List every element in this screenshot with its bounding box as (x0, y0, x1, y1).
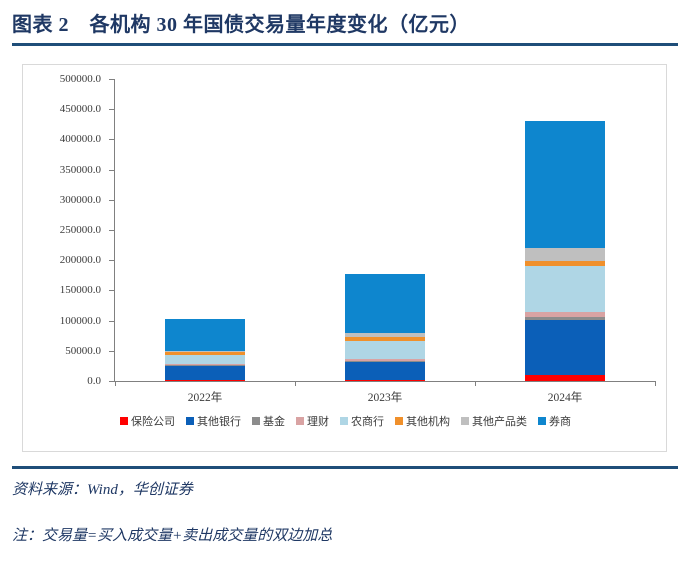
figure-page: 图表 2 各机构 30 年国债交易量年度变化（亿元） 0.050000.0100… (0, 0, 690, 562)
y-axis-tick-label: 150000.0 (60, 284, 101, 296)
bar-series-area (115, 79, 655, 381)
y-axis-tick-label: 500000.0 (60, 73, 101, 85)
legend-swatch-icon (340, 417, 348, 425)
footer-divider (12, 466, 678, 469)
legend-swatch-icon (538, 417, 546, 425)
y-axis-tick-label: 200000.0 (60, 254, 101, 266)
legend-item[interactable]: 理财 (296, 413, 329, 429)
legend-label: 理财 (307, 413, 329, 429)
bar-group[interactable] (165, 319, 245, 381)
bar-group[interactable] (525, 121, 605, 381)
bar-segment[interactable] (165, 380, 245, 381)
legend-item[interactable]: 其他产品类 (461, 413, 527, 429)
x-axis-tick-mark (295, 381, 296, 386)
legend-swatch-icon (395, 417, 403, 425)
bar-segment[interactable] (525, 121, 605, 248)
x-axis-tick-label: 2022年 (145, 389, 265, 405)
x-axis-line (114, 381, 655, 382)
bar-segment[interactable] (525, 375, 605, 381)
legend-item[interactable]: 其他银行 (186, 413, 241, 429)
bar-segment[interactable] (165, 319, 245, 351)
bar-segment[interactable] (165, 366, 245, 380)
legend-swatch-icon (252, 417, 260, 425)
bar-segment[interactable] (525, 248, 605, 261)
x-axis-tick-label: 2023年 (325, 389, 445, 405)
title-divider (12, 43, 678, 46)
chart-container: 0.050000.0100000.0150000.0200000.0250000… (22, 64, 667, 452)
legend-label: 农商行 (351, 413, 384, 429)
page-title: 图表 2 各机构 30 年国债交易量年度变化（亿元） (12, 8, 678, 37)
y-axis-tick-label: 50000.0 (65, 345, 101, 357)
chart-plot: 0.050000.0100000.0150000.0200000.0250000… (23, 65, 668, 453)
bar-segment[interactable] (525, 266, 605, 313)
y-axis-labels: 0.050000.0100000.0150000.0200000.0250000… (23, 65, 109, 395)
legend-item[interactable]: 保险公司 (120, 413, 175, 429)
x-axis-tick-mark (115, 381, 116, 386)
y-axis-tick-label: 450000.0 (60, 103, 101, 115)
y-axis-tick-label: 400000.0 (60, 133, 101, 145)
y-axis-tick-label: 0.0 (87, 375, 101, 387)
legend-swatch-icon (120, 417, 128, 425)
bar-segment[interactable] (525, 320, 605, 376)
y-axis-tick-label: 100000.0 (60, 315, 101, 327)
x-axis-tick-mark (475, 381, 476, 386)
legend-label: 基金 (263, 413, 285, 429)
legend-item[interactable]: 其他机构 (395, 413, 450, 429)
bar-segment[interactable] (345, 362, 425, 380)
legend-swatch-icon (461, 417, 469, 425)
bar-segment[interactable] (345, 380, 425, 381)
source-text: 资料来源：Wind，华创证券 (12, 478, 193, 499)
y-axis-tick-label: 300000.0 (60, 194, 101, 206)
bar-segment[interactable] (165, 355, 245, 364)
title-block: 图表 2 各机构 30 年国债交易量年度变化（亿元） (0, 0, 690, 46)
legend-label: 券商 (549, 413, 571, 429)
bar-group[interactable] (345, 274, 425, 381)
legend-item[interactable]: 基金 (252, 413, 285, 429)
legend-label: 保险公司 (131, 413, 175, 429)
x-axis-tick-label: 2024年 (505, 389, 625, 405)
legend-swatch-icon (186, 417, 194, 425)
note-text: 注：交易量=买入成交量+卖出成交量的双边加总 (12, 524, 332, 545)
y-axis-tick-label: 250000.0 (60, 224, 101, 236)
legend-swatch-icon (296, 417, 304, 425)
legend-label: 其他产品类 (472, 413, 527, 429)
chart-legend: 保险公司其他银行基金理财农商行其他机构其他产品类券商 (23, 413, 668, 429)
legend-label: 其他机构 (406, 413, 450, 429)
y-axis-tick-label: 350000.0 (60, 164, 101, 176)
bar-segment[interactable] (345, 341, 425, 359)
legend-label: 其他银行 (197, 413, 241, 429)
bar-segment[interactable] (345, 274, 425, 333)
x-axis-tick-mark (655, 381, 656, 386)
legend-item[interactable]: 券商 (538, 413, 571, 429)
legend-item[interactable]: 农商行 (340, 413, 384, 429)
